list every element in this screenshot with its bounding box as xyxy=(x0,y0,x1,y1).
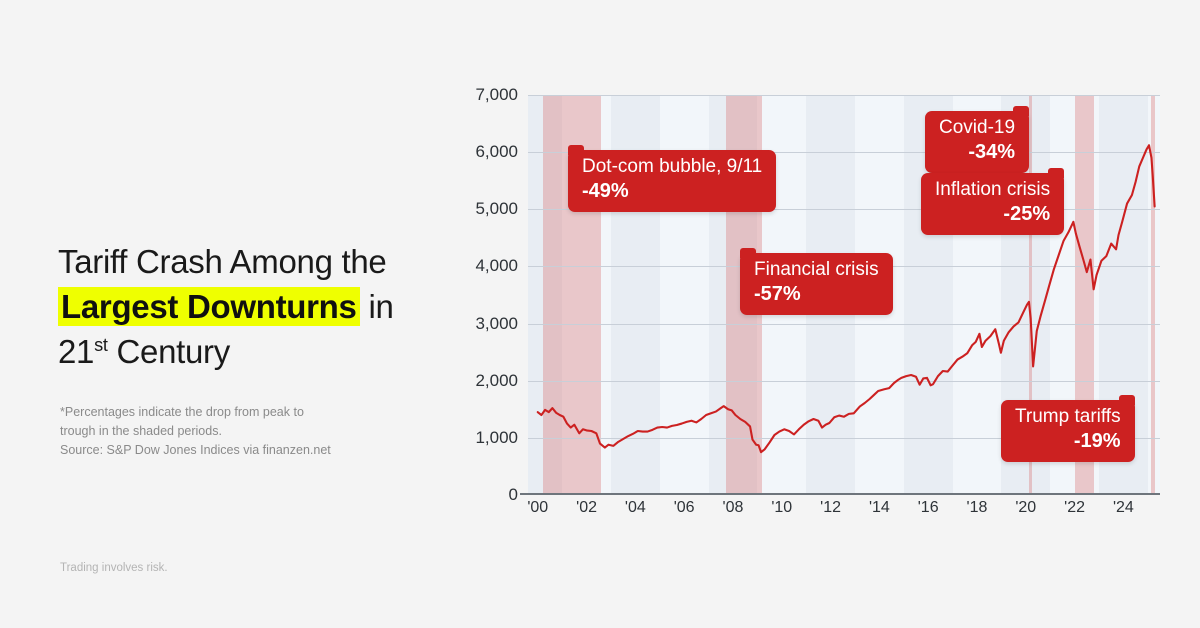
callout-percentage: -49% xyxy=(582,180,762,204)
page-title: Tariff Crash Among the Largest Downturns… xyxy=(58,240,453,375)
axis-origin-tick xyxy=(520,493,528,495)
callout-title: Dot-com bubble, 9/11 xyxy=(582,156,762,178)
x-axis-tick-label: '10 xyxy=(771,499,792,517)
x-axis-tick-label: '20 xyxy=(1015,499,1036,517)
callout-title: Financial crisis xyxy=(754,259,879,281)
y-axis-tick-label: 0 xyxy=(509,485,518,505)
callout-financial-crisis: Financial crisis-57% xyxy=(740,253,893,315)
y-axis-tick-label: 7,000 xyxy=(475,85,518,105)
callout-percentage: -25% xyxy=(935,203,1050,227)
y-axis-tick-label: 3,000 xyxy=(475,314,518,334)
y-axis-tick-label: 2,000 xyxy=(475,371,518,391)
x-axis-tick-label: '00 xyxy=(527,499,548,517)
x-axis-tick-label: '14 xyxy=(869,499,890,517)
risk-disclaimer: Trading involves risk. xyxy=(60,562,168,574)
callout-notch xyxy=(568,145,584,155)
headline-ordinal-suffix: st xyxy=(94,335,108,355)
x-axis-tick-label: '18 xyxy=(967,499,988,517)
callout-title: Covid-19 xyxy=(939,117,1015,139)
infographic-root: Tariff Crash Among the Largest Downturns… xyxy=(0,0,1200,628)
x-axis-tick-label: '16 xyxy=(918,499,939,517)
x-axis-tick-label: '24 xyxy=(1113,499,1134,517)
callout-notch xyxy=(1013,106,1029,116)
callout-notch xyxy=(740,248,756,258)
callout-percentage: -57% xyxy=(754,283,879,307)
x-axis-tick-label: '06 xyxy=(674,499,695,517)
callout-dot-com-bubble-9-11: Dot-com bubble, 9/11-49% xyxy=(568,150,776,212)
footnote-source: Source: S&P Dow Jones Indices via finanz… xyxy=(60,441,420,460)
callout-notch xyxy=(1119,395,1135,405)
x-axis-tick-label: '08 xyxy=(723,499,744,517)
x-axis-tick-label: '02 xyxy=(576,499,597,517)
headline-century-number: 21 xyxy=(58,333,94,370)
y-axis-tick-label: 1,000 xyxy=(475,428,518,448)
x-axis-tick-label: '22 xyxy=(1064,499,1085,517)
headline-line1: Tariff Crash Among the xyxy=(58,243,386,280)
footnote-line-2: trough in the shaded periods. xyxy=(60,422,420,441)
callout-covid-19: Covid-19-34% xyxy=(925,111,1029,173)
chart-container: 01,0002,0003,0004,0005,0006,0007,000 '00… xyxy=(458,95,1170,527)
footnote-block: *Percentages indicate the drop from peak… xyxy=(60,403,420,460)
y-axis-tick-label: 6,000 xyxy=(475,142,518,162)
callout-percentage: -19% xyxy=(1015,430,1121,454)
footnote-line-1: *Percentages indicate the drop from peak… xyxy=(60,403,420,422)
callout-inflation-crisis: Inflation crisis-25% xyxy=(921,173,1064,235)
x-axis: '00'02'04'06'08'10'12'14'16'18'20'22'24 xyxy=(528,497,1160,527)
callout-percentage: -34% xyxy=(939,141,1015,165)
headline-after-highlight: in xyxy=(368,288,393,325)
callout-notch xyxy=(1048,168,1064,178)
y-axis: 01,0002,0003,0004,0005,0006,0007,000 xyxy=(458,95,518,495)
y-axis-tick-label: 4,000 xyxy=(475,256,518,276)
x-axis-tick-label: '12 xyxy=(820,499,841,517)
x-axis-tick-label: '04 xyxy=(625,499,646,517)
headline-century-word: Century xyxy=(117,333,230,370)
callout-title: Trump tariffs xyxy=(1015,406,1121,428)
x-axis-line xyxy=(528,493,1160,495)
callout-trump-tariffs: Trump tariffs-19% xyxy=(1001,400,1135,462)
y-axis-tick-label: 5,000 xyxy=(475,199,518,219)
callout-title: Inflation crisis xyxy=(935,179,1050,201)
headline-block: Tariff Crash Among the Largest Downturns… xyxy=(58,240,453,375)
headline-highlight: Largest Downturns xyxy=(58,287,360,326)
